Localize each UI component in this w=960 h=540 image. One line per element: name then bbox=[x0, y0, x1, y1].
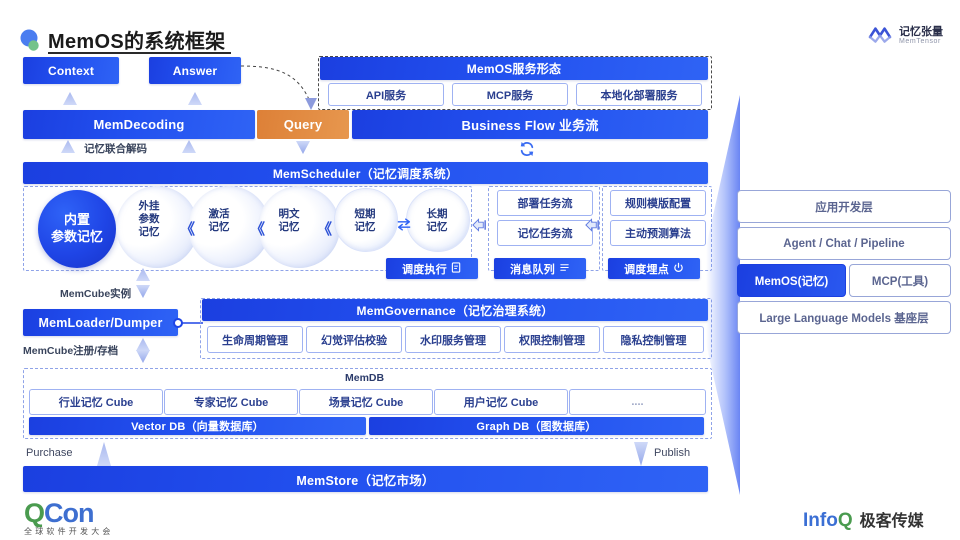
message-queue-tag[interactable]: 消息队列 bbox=[494, 258, 586, 279]
joint-decode-label: 记忆联合解码 bbox=[84, 141, 147, 156]
graph-db-bar[interactable]: Graph DB（图数据库） bbox=[369, 417, 704, 435]
memory-label-3: 明文 记忆 bbox=[268, 208, 310, 234]
probe-item-rule-template[interactable]: 规则模版配置 bbox=[610, 190, 706, 216]
stack-layer-agent-chat-pipeline[interactable]: Agent / Chat / Pipeline bbox=[737, 227, 951, 260]
infoq-info: Info bbox=[803, 510, 838, 532]
memstore-bar[interactable]: MemStore（记忆市场） bbox=[23, 466, 708, 492]
swap-arrows-icon bbox=[396, 217, 412, 236]
memscheduler-header: MemScheduler（记忆调度系统） bbox=[23, 162, 708, 184]
service-item-mcp[interactable]: MCP服务 bbox=[452, 83, 568, 106]
arrow-up-to-answer bbox=[188, 92, 202, 105]
exec-doc-icon bbox=[451, 262, 462, 276]
memdb-cube-more[interactable]: .... bbox=[569, 389, 706, 415]
arrow-down-publish bbox=[634, 442, 648, 466]
infoq-q: Q bbox=[838, 510, 853, 532]
memdb-cube-expert[interactable]: 专家记忆 Cube bbox=[164, 389, 298, 415]
memcube-register-label: MemCube注册/存档 bbox=[23, 343, 118, 358]
memcube-instance-label: MemCube实例 bbox=[60, 286, 131, 301]
arrow-left-queue-to-chain bbox=[471, 217, 487, 233]
qcon-q: Q bbox=[24, 498, 44, 528]
memdb-cube-scene[interactable]: 场景记忆 Cube bbox=[299, 389, 433, 415]
query-bar[interactable]: Query bbox=[257, 110, 349, 139]
brand-name-en: MemTensor bbox=[899, 38, 943, 46]
service-item-local-deploy[interactable]: 本地化部署服务 bbox=[576, 83, 702, 106]
builtin-parameter-memory-circle: 内置 参数记忆 bbox=[38, 190, 116, 268]
qcon-logo: QCon 全球软件开发大会 bbox=[24, 498, 114, 537]
arrow-down-query-to-scheduler bbox=[296, 141, 310, 154]
memdecoding-bar[interactable]: MemDecoding bbox=[23, 110, 255, 139]
chevron-left-icon-3: 《 bbox=[317, 218, 330, 239]
arrow-up-to-context bbox=[63, 92, 77, 105]
memos-service-header: MemOS服务形态 bbox=[320, 57, 708, 80]
arrow-up-purchase bbox=[97, 442, 111, 466]
memory-label-2: 激活 记忆 bbox=[198, 208, 240, 234]
queue-item-memory-flow[interactable]: 记忆任务流 bbox=[497, 220, 593, 246]
arrow-down-memcube-instance bbox=[136, 285, 150, 298]
arrow-down-memcube-register bbox=[136, 350, 150, 363]
governance-item-hallucination[interactable]: 幻觉评估校验 bbox=[306, 326, 402, 353]
infoq-cn: 极客传媒 bbox=[860, 507, 924, 531]
governance-item-lifecycle[interactable]: 生命周期管理 bbox=[207, 326, 303, 353]
memdb-cube-user[interactable]: 用户记忆 Cube bbox=[434, 389, 568, 415]
page-title: MemOS的系统框架 bbox=[48, 25, 225, 54]
context-box[interactable]: Context bbox=[23, 57, 119, 84]
chevron-left-icon-1: 《 bbox=[180, 218, 193, 239]
governance-item-watermark[interactable]: 水印服务管理 bbox=[405, 326, 501, 353]
qcon-subtitle: 全球软件开发大会 bbox=[24, 526, 114, 537]
core-line2: 参数记忆 bbox=[51, 229, 103, 246]
core-line1: 内置 bbox=[64, 212, 90, 229]
schedule-probe-label: 调度埋点 bbox=[624, 261, 669, 277]
memtensor-logo-icon bbox=[867, 25, 893, 48]
business-flow-bar[interactable]: Business Flow 业务流 bbox=[352, 110, 708, 139]
chevron-left-icon-2: 《 bbox=[250, 218, 263, 239]
title-underline bbox=[48, 52, 231, 54]
qcon-con: Con bbox=[44, 498, 93, 528]
answer-box[interactable]: Answer bbox=[149, 57, 241, 84]
memgovernance-header: MemGovernance（记忆治理系统） bbox=[202, 299, 708, 321]
slide-canvas: MemOS的系统框架 记忆张量 MemTensor Context Answer… bbox=[0, 0, 960, 540]
stack-layer-app-dev[interactable]: 应用开发层 bbox=[737, 190, 951, 223]
schedule-exec-label: 调度执行 bbox=[402, 261, 447, 277]
arrow-up-left-decoding bbox=[61, 140, 75, 153]
refresh-loop-icon bbox=[518, 141, 536, 161]
arrow-up-right-decoding bbox=[182, 140, 196, 153]
vector-db-bar[interactable]: Vector DB（向量数据库） bbox=[29, 417, 366, 435]
probe-power-icon bbox=[673, 262, 684, 276]
memloader-dumper-bar[interactable]: MemLoader/Dumper bbox=[23, 309, 178, 336]
schedule-exec-tag[interactable]: 调度执行 bbox=[386, 258, 478, 279]
memory-label-4: 短期 记忆 bbox=[344, 208, 386, 234]
probe-item-predict-algo[interactable]: 主动预测算法 bbox=[610, 220, 706, 246]
memdb-cube-industry[interactable]: 行业记忆 Cube bbox=[29, 389, 163, 415]
stack-layer-memos[interactable]: MemOS(记忆) bbox=[737, 264, 846, 297]
service-item-api[interactable]: API服务 bbox=[328, 83, 444, 106]
governance-item-permission[interactable]: 权限控制管理 bbox=[504, 326, 600, 353]
memdb-header: MemDB bbox=[345, 372, 384, 384]
memtensor-brand: 记忆张量 MemTensor bbox=[867, 25, 943, 48]
publish-label: Publish bbox=[654, 447, 690, 459]
message-queue-label: 消息队列 bbox=[510, 261, 555, 277]
stack-layer-mcp[interactable]: MCP(工具) bbox=[849, 264, 951, 297]
memory-label-1: 外挂 参数 记忆 bbox=[128, 200, 170, 238]
purchase-label: Purchase bbox=[26, 447, 72, 459]
infoq-logo: Info Q 极客传媒 bbox=[803, 507, 924, 532]
stack-layer-llm[interactable]: Large Language Models 基座层 bbox=[737, 301, 951, 334]
memos-logo-icon bbox=[18, 28, 44, 59]
arrow-up-memcube-register bbox=[136, 338, 150, 351]
brand-name-cn: 记忆张量 bbox=[899, 27, 943, 39]
queue-item-deploy-flow[interactable]: 部署任务流 bbox=[497, 190, 593, 216]
schedule-probe-tag[interactable]: 调度埋点 bbox=[608, 258, 700, 279]
governance-item-privacy[interactable]: 隐私控制管理 bbox=[603, 326, 704, 353]
memory-label-5: 长期 记忆 bbox=[416, 208, 458, 234]
queue-list-icon bbox=[559, 262, 570, 276]
arrow-left-probe-to-queue bbox=[584, 217, 600, 233]
